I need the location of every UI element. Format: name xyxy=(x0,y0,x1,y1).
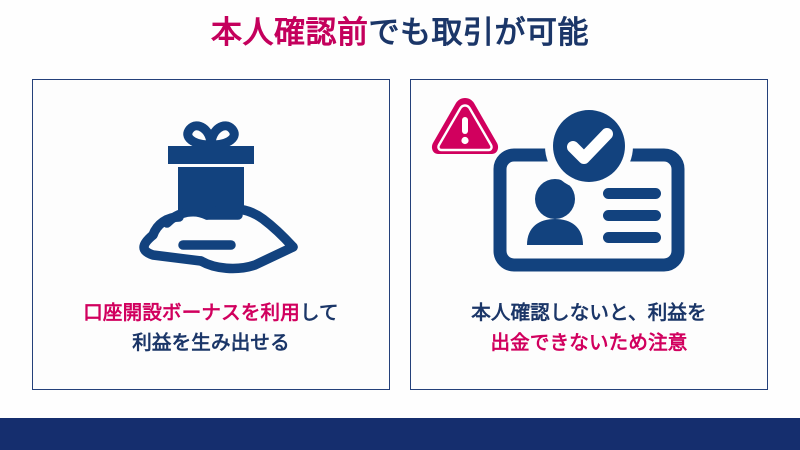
card-group: 口座開設ボーナスを利用して 利益を生み出せる xyxy=(32,79,768,390)
gift-on-hand-icon xyxy=(97,99,325,279)
bottom-accent-bar xyxy=(0,418,800,450)
kyc-caption: 本人確認しないと、利益を 出金できないため注意 xyxy=(411,298,767,358)
page-title-text: 本人確認前でも取引が可能 xyxy=(211,14,589,53)
kyc-caption-line1: 本人確認しないと、利益を xyxy=(411,298,767,328)
kyc-caption-line2: 出金できないため注意 xyxy=(411,328,767,358)
card-kyc[interactable]: 本人確認しないと、利益を 出金できないため注意 xyxy=(410,79,768,390)
bonus-caption-line2: 利益を生み出せる xyxy=(33,328,389,358)
page-title-highlight: 本人確認前 xyxy=(211,15,369,50)
id-card-verified-icon xyxy=(483,103,695,275)
bonus-caption-line1-highlight: 口座開設ボーナスを利用 xyxy=(83,302,300,324)
bonus-caption-line1: 口座開設ボーナスを利用して xyxy=(33,298,389,328)
page-title: 本人確認前でも取引が可能 xyxy=(0,14,800,53)
kyc-icon-area xyxy=(411,80,767,298)
bonus-caption-line1-rest: して xyxy=(300,302,339,324)
bonus-caption: 口座開設ボーナスを利用して 利益を生み出せる xyxy=(33,298,389,358)
slide-root: 本人確認前でも取引が可能 xyxy=(0,0,800,450)
card-bonus[interactable]: 口座開設ボーナスを利用して 利益を生み出せる xyxy=(32,79,390,390)
page-title-rest: でも取引が可能 xyxy=(369,15,590,50)
bonus-icon-area xyxy=(33,80,389,298)
